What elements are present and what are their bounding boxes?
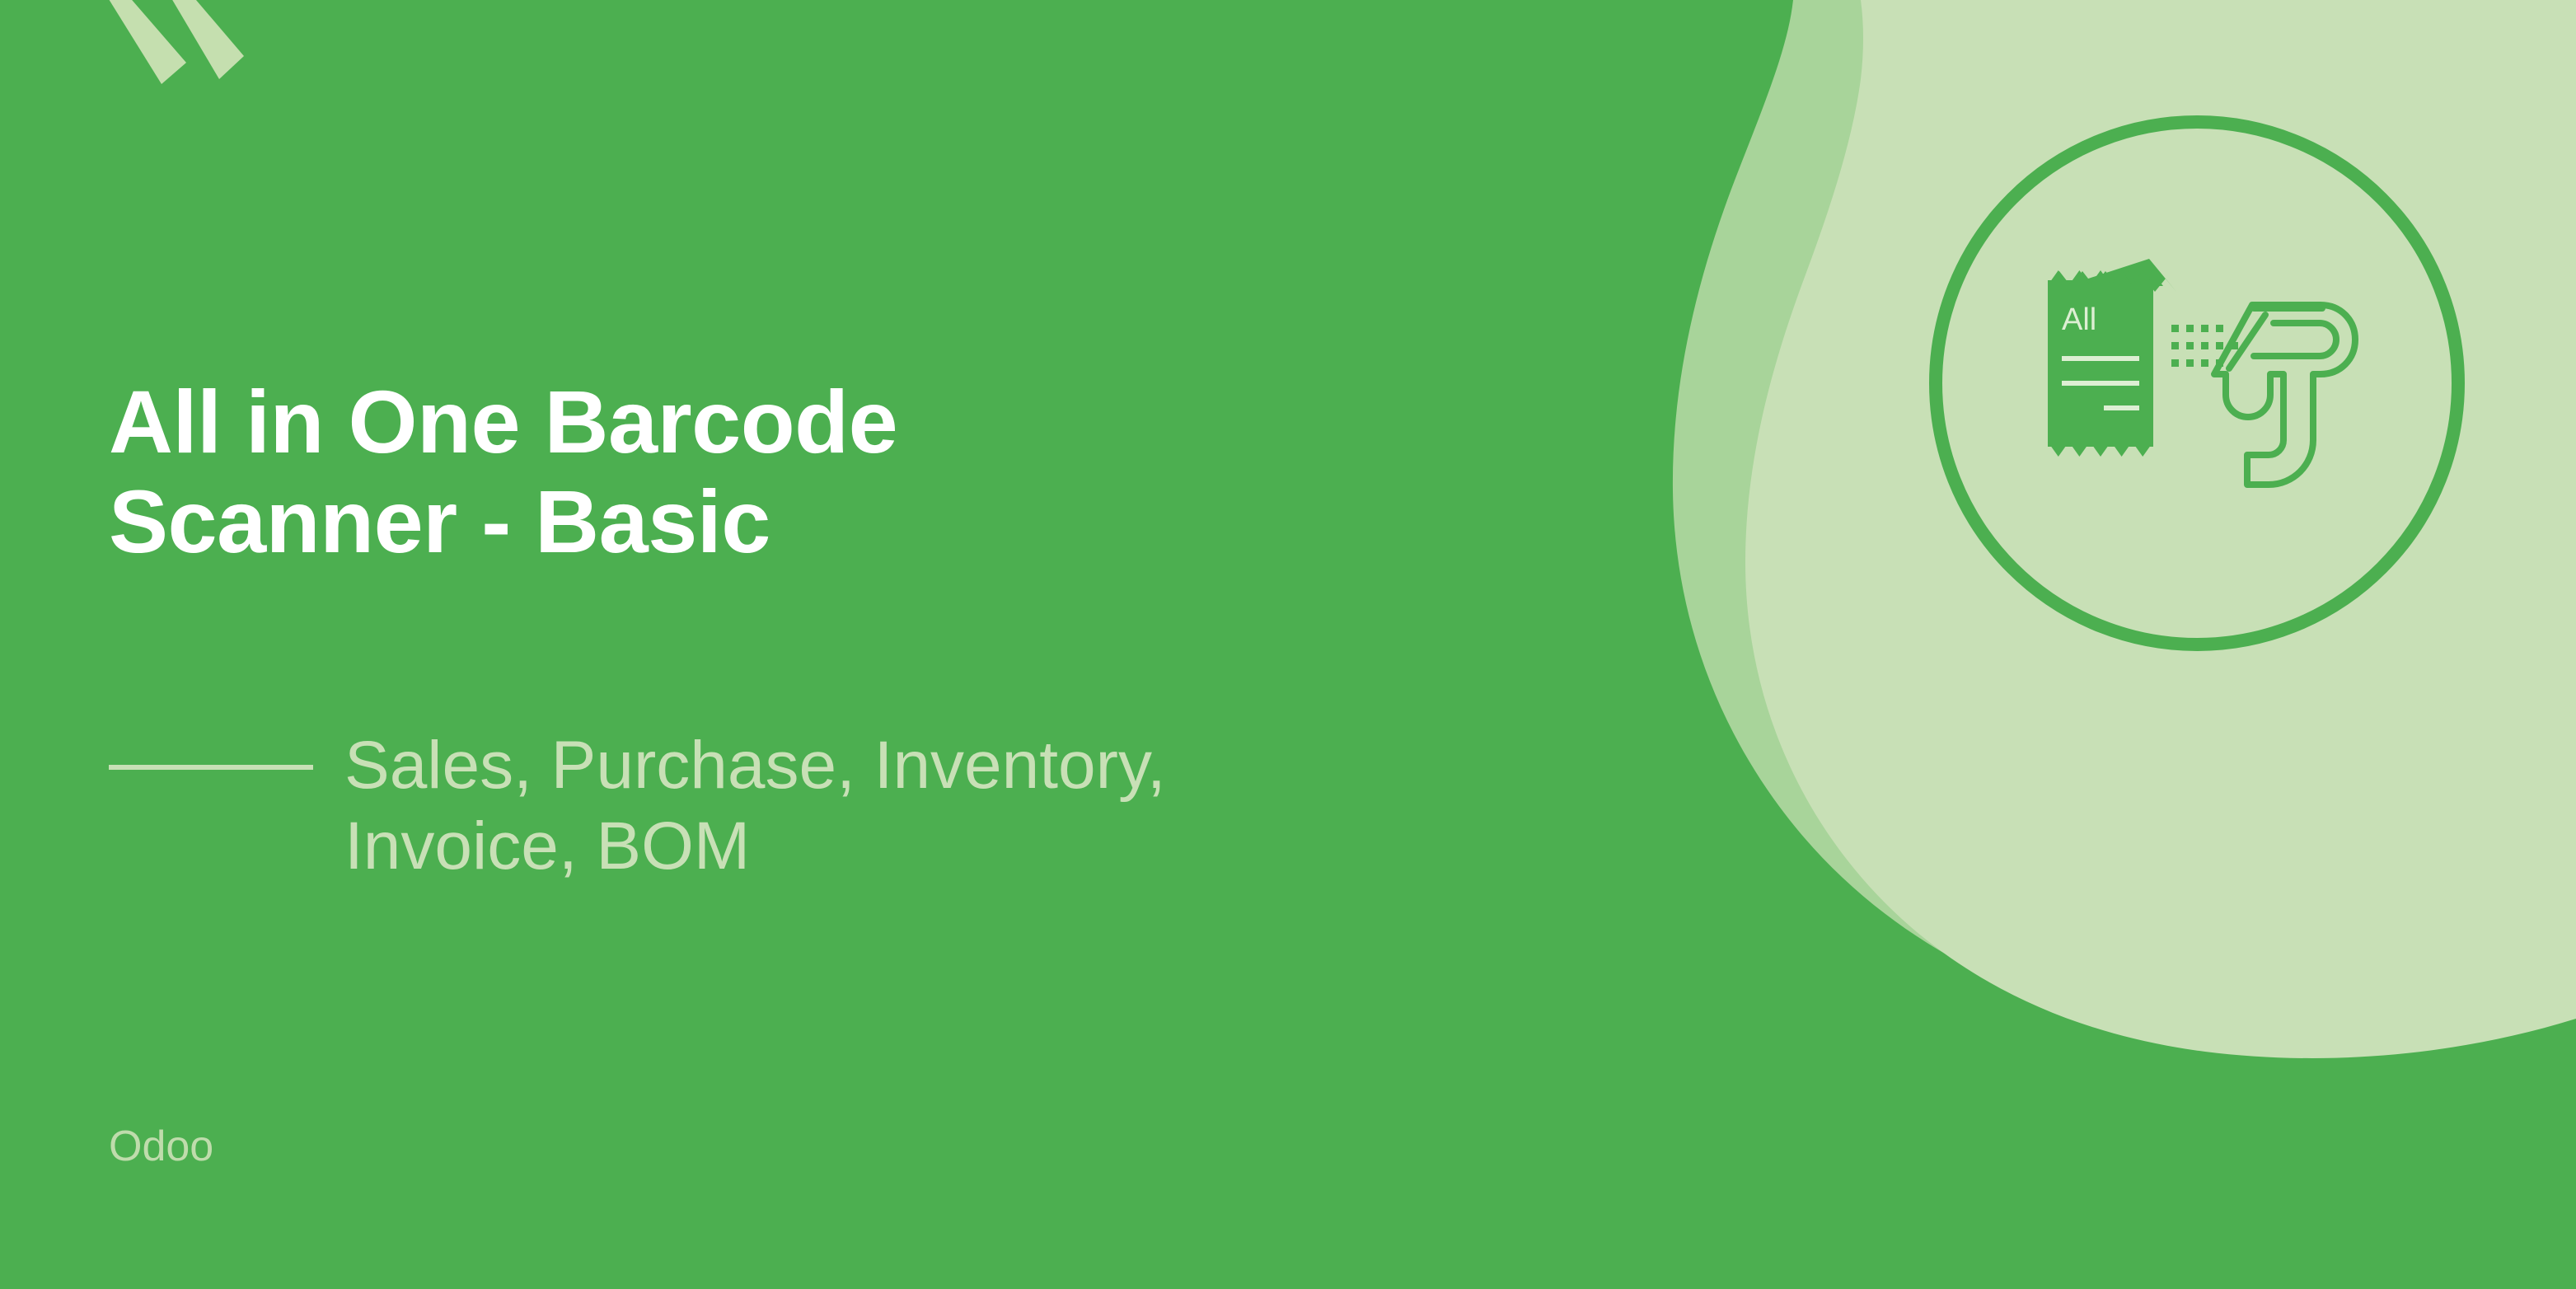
receipt-icon: All xyxy=(2048,259,2176,457)
page-title: All in One Barcode Scanner - Basic xyxy=(109,373,1394,572)
subtitle-dash-decoration xyxy=(109,765,313,770)
icon-ring-circle xyxy=(1936,122,2458,644)
barcode-scanner-icon: All xyxy=(1924,110,2470,656)
brand-label: Odoo xyxy=(109,1125,213,1168)
receipt-line-3 xyxy=(2104,405,2139,410)
page-subtitle: Sales, Purchase, Inventory, Invoice, BOM xyxy=(344,725,1166,888)
subtitle-row: Sales, Purchase, Inventory, Invoice, BOM xyxy=(109,725,1724,888)
banner-content: All in One Barcode Scanner - Basic Sales… xyxy=(109,0,1757,1289)
scanner-gun-inner-head xyxy=(2254,323,2336,356)
receipt-all-label: All xyxy=(2062,302,2096,337)
receipt-line-1 xyxy=(2062,356,2139,361)
receipt-line-2 xyxy=(2062,381,2139,386)
promo-banner: All in One Barcode Scanner - Basic Sales… xyxy=(0,0,2576,1289)
receipt-bottom-zigzag xyxy=(2048,442,2153,457)
barcode-scanner-gun-icon xyxy=(2214,305,2355,485)
barcode-scanner-icon-badge: All xyxy=(1924,110,2470,656)
